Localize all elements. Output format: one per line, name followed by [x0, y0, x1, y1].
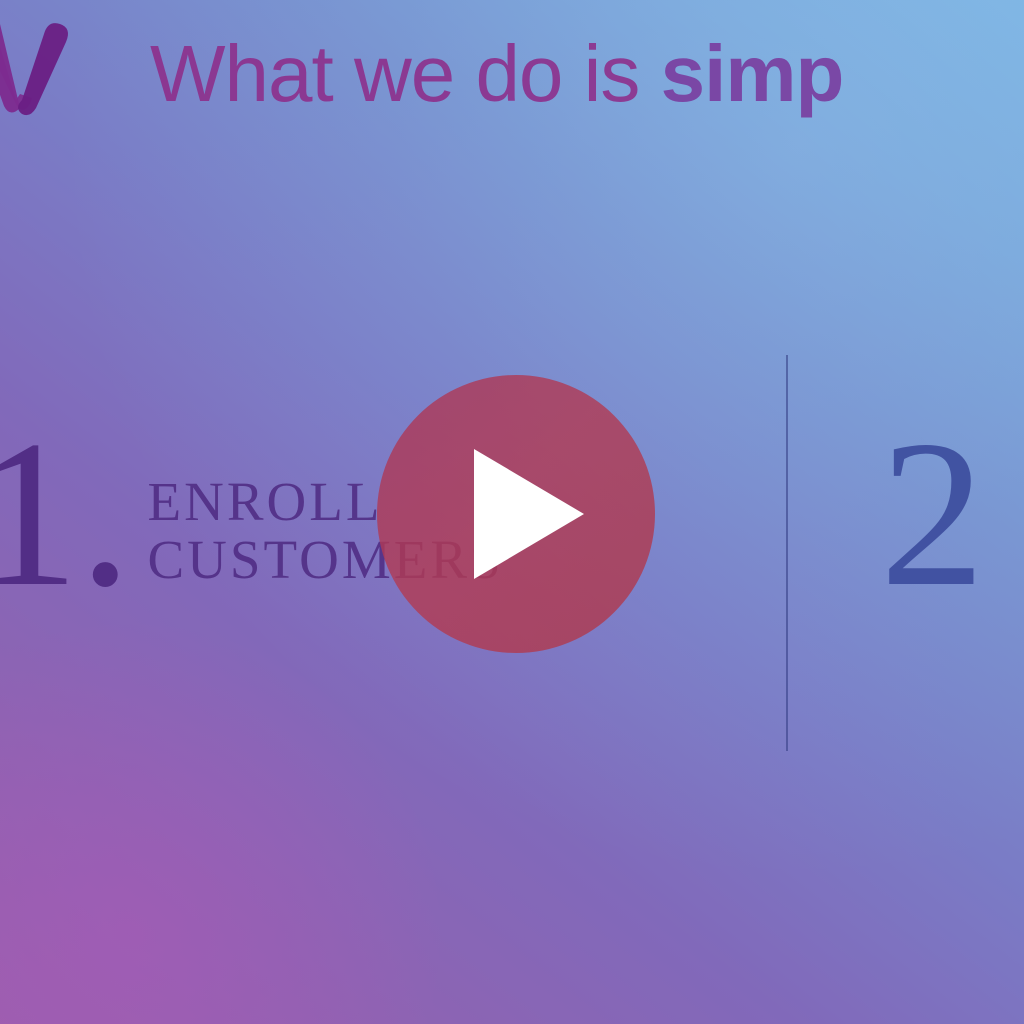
- v-checkmark-logo-icon: [0, 12, 90, 130]
- step-number-2: 2: [880, 428, 985, 600]
- step-item-2: 2: [880, 428, 1001, 600]
- page-title: What we do is simp: [150, 34, 843, 114]
- brand-logo: TER.: [0, 12, 90, 130]
- video-thumbnail-frame: TER. What we do is simp 1. ENROLL CUSTOM…: [0, 0, 1024, 1024]
- page-title-emphasis: simp: [661, 29, 844, 118]
- play-button[interactable]: [377, 375, 655, 653]
- step-number-1: 1.: [0, 428, 132, 600]
- play-triangle-icon: [474, 449, 584, 579]
- page-title-regular: What we do is: [150, 29, 661, 118]
- vertical-divider: [786, 355, 788, 751]
- logo-wordmark: TER.: [0, 108, 2, 120]
